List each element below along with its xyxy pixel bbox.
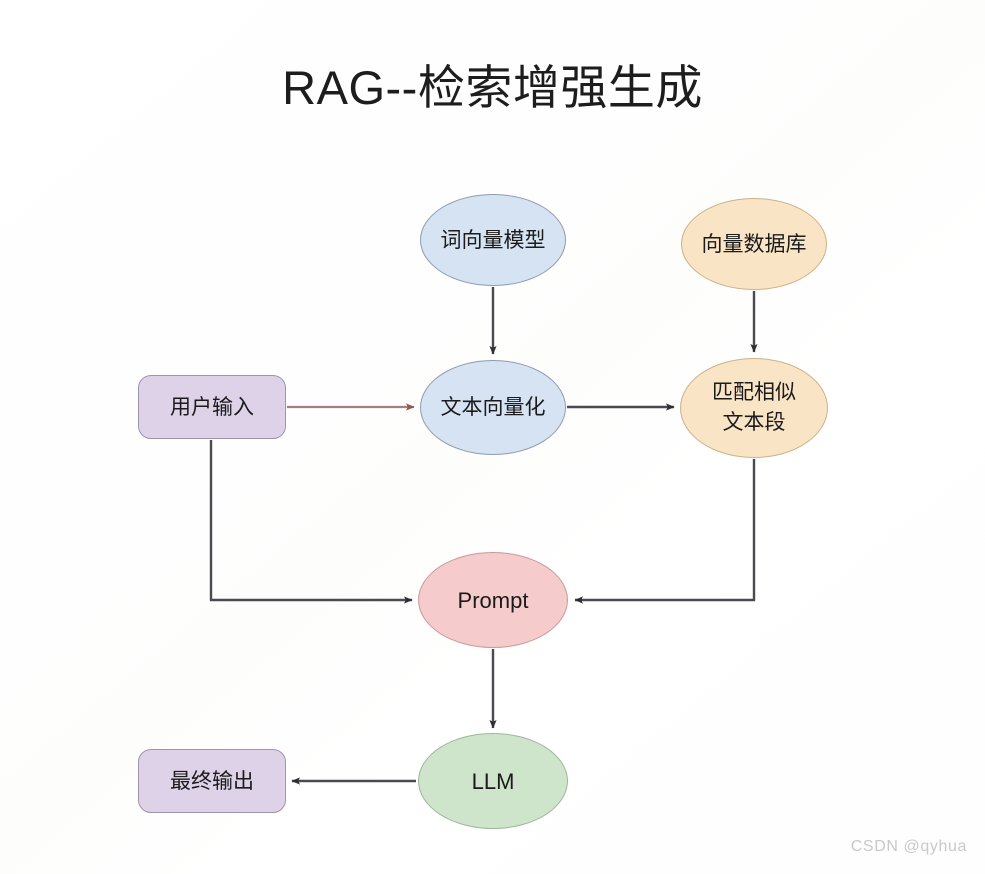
node-final-output[interactable]: 最终输出 — [138, 749, 286, 813]
page-title: RAG--检索增强生成 — [0, 58, 985, 118]
node-word-vector-model[interactable]: 词向量模型 — [420, 194, 566, 286]
node-user-input[interactable]: 用户输入 — [138, 375, 286, 439]
edge-match-similar-to-prompt — [575, 459, 754, 600]
node-match-similar-text[interactable]: 匹配相似 文本段 — [680, 358, 828, 458]
node-label: 匹配相似 文本段 — [712, 378, 796, 438]
node-label: 用户输入 — [170, 394, 254, 421]
node-label: LLM — [472, 768, 515, 795]
watermark: CSDN @qyhua — [851, 838, 967, 856]
node-label: 词向量模型 — [441, 227, 546, 254]
diagram-canvas: RAG--检索增强生成 — [0, 0, 985, 874]
node-label: 最终输出 — [170, 768, 254, 795]
node-text-vectorization[interactable]: 文本向量化 — [420, 360, 566, 455]
node-label-line-1: 匹配相似 — [712, 378, 796, 408]
node-llm[interactable]: LLM — [418, 733, 568, 829]
node-label: 向量数据库 — [702, 231, 807, 258]
node-label-line-2: 文本段 — [712, 408, 796, 438]
node-vector-database[interactable]: 向量数据库 — [681, 198, 827, 290]
node-label: 文本向量化 — [441, 394, 546, 421]
edge-user-input-to-prompt — [211, 440, 412, 600]
node-label: Prompt — [458, 587, 529, 614]
node-prompt[interactable]: Prompt — [418, 552, 568, 648]
